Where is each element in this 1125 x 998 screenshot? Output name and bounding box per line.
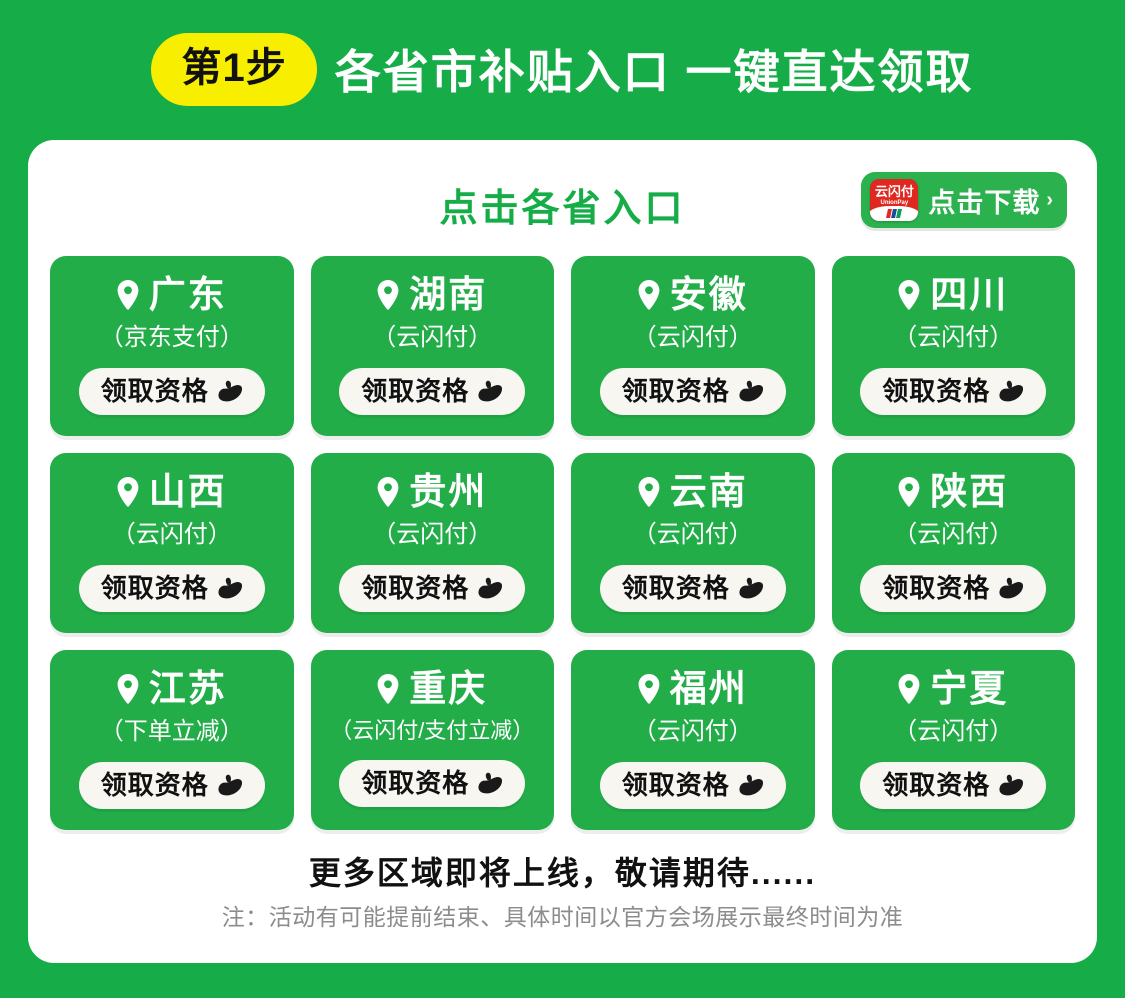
download-button[interactable]: 云闪付 UnionPay 点击下载 › <box>861 172 1067 228</box>
claim-button-label: 领取资格 <box>622 772 730 798</box>
claim-button-label: 领取资格 <box>622 575 730 601</box>
unionpay-logo-icon: 云闪付 UnionPay <box>870 179 918 221</box>
footer-headline: 更多区域即将上线，敬请期待...... <box>50 856 1075 891</box>
claim-button[interactable]: 领取资格 <box>339 760 525 807</box>
claim-button-label: 领取资格 <box>101 575 209 601</box>
claim-button[interactable]: 领取资格 <box>339 368 525 415</box>
province-channel: （云闪付） <box>633 326 753 350</box>
page-title: 各省市补贴入口 一键直达领取 <box>335 36 974 102</box>
hand-pointer-icon <box>998 774 1024 796</box>
province-name: 宁夏 <box>930 670 1008 707</box>
page-header: 第1步 各省市补贴入口 一键直达领取 <box>0 0 1125 120</box>
location-pin-icon <box>117 674 139 704</box>
province-channel: （云闪付） <box>893 326 1013 350</box>
province-name: 贵州 <box>409 473 487 510</box>
province-channel: （京东支付） <box>100 326 244 350</box>
location-pin-icon <box>377 674 399 704</box>
location-pin-icon <box>117 477 139 507</box>
province-card[interactable]: 安徽（云闪付）领取资格 <box>571 256 815 436</box>
claim-button[interactable]: 领取资格 <box>600 565 786 612</box>
province-card[interactable]: 福州（云闪付）领取资格 <box>571 650 815 830</box>
claim-button[interactable]: 领取资格 <box>79 368 265 415</box>
step-badge: 第1步 <box>151 33 316 106</box>
province-card-head: 重庆 <box>377 670 487 707</box>
province-name: 福州 <box>670 670 748 707</box>
unionpay-logo-base <box>870 206 918 221</box>
province-card-head: 宁夏 <box>898 670 1008 707</box>
location-pin-icon <box>898 674 920 704</box>
promo-page: 第1步 各省市补贴入口 一键直达领取 点击各省入口 云闪付 UnionPay 点… <box>0 0 1125 998</box>
province-name: 重庆 <box>409 670 487 707</box>
hand-pointer-icon <box>217 774 243 796</box>
claim-button[interactable]: 领取资格 <box>600 762 786 809</box>
province-name: 山西 <box>149 473 227 510</box>
hand-pointer-icon <box>738 380 764 402</box>
location-pin-icon <box>898 477 920 507</box>
section-title: 点击各省入口 <box>439 177 685 232</box>
claim-button[interactable]: 领取资格 <box>79 762 265 809</box>
province-name: 陕西 <box>930 473 1008 510</box>
location-pin-icon <box>638 477 660 507</box>
province-channel: （云闪付） <box>372 326 492 350</box>
province-card[interactable]: 湖南（云闪付）领取资格 <box>311 256 555 436</box>
province-name: 湖南 <box>409 276 487 313</box>
province-card[interactable]: 重庆（云闪付/支付立减）领取资格 <box>311 650 555 830</box>
panel-footer: 更多区域即将上线，敬请期待...... 注：活动有可能提前结束、具体时间以官方会… <box>50 856 1075 930</box>
footer-note: 注：活动有可能提前结束、具体时间以官方会场展示最终时间为准 <box>50 905 1075 930</box>
claim-button-label: 领取资格 <box>882 772 990 798</box>
location-pin-icon <box>638 280 660 310</box>
claim-button-label: 领取资格 <box>882 575 990 601</box>
claim-button-label: 领取资格 <box>361 770 469 796</box>
claim-button[interactable]: 领取资格 <box>860 762 1046 809</box>
location-pin-icon <box>377 477 399 507</box>
hand-pointer-icon <box>998 380 1024 402</box>
claim-button-label: 领取资格 <box>101 772 209 798</box>
stripe-green <box>896 209 902 218</box>
claim-button[interactable]: 领取资格 <box>339 565 525 612</box>
province-card-head: 四川 <box>898 276 1008 313</box>
province-card-head: 江苏 <box>117 670 227 707</box>
location-pin-icon <box>377 280 399 310</box>
province-channel: （云闪付） <box>633 523 753 547</box>
claim-button-label: 领取资格 <box>882 378 990 404</box>
content-panel: 点击各省入口 云闪付 UnionPay 点击下载 › 广东（京东支付）领取资格湖… <box>28 140 1097 963</box>
province-card-head: 广东 <box>117 276 227 313</box>
province-card[interactable]: 四川（云闪付）领取资格 <box>832 256 1076 436</box>
province-card[interactable]: 贵州（云闪付）领取资格 <box>311 453 555 633</box>
location-pin-icon <box>117 280 139 310</box>
province-card-head: 贵州 <box>377 473 487 510</box>
province-card-head: 山西 <box>117 473 227 510</box>
province-channel: （云闪付/支付立减） <box>330 720 534 742</box>
province-name: 广东 <box>149 276 227 313</box>
province-card-head: 陕西 <box>898 473 1008 510</box>
province-name: 云南 <box>670 473 748 510</box>
location-pin-icon <box>898 280 920 310</box>
province-channel: （云闪付） <box>372 523 492 547</box>
location-pin-icon <box>638 674 660 704</box>
panel-header: 点击各省入口 云闪付 UnionPay 点击下载 › <box>50 166 1075 242</box>
province-card-head: 云南 <box>638 473 748 510</box>
hand-pointer-icon <box>998 577 1024 599</box>
claim-button-label: 领取资格 <box>101 378 209 404</box>
hand-pointer-icon <box>738 774 764 796</box>
province-name: 四川 <box>930 276 1008 313</box>
hand-pointer-icon <box>217 380 243 402</box>
province-card[interactable]: 江苏（下单立减）领取资格 <box>50 650 294 830</box>
province-channel: （下单立减） <box>100 720 244 744</box>
hand-pointer-icon <box>217 577 243 599</box>
province-grid: 广东（京东支付）领取资格湖南（云闪付）领取资格安徽（云闪付）领取资格四川（云闪付… <box>50 256 1075 830</box>
province-card-head: 湖南 <box>377 276 487 313</box>
hand-pointer-icon <box>477 577 503 599</box>
province-card[interactable]: 广东（京东支付）领取资格 <box>50 256 294 436</box>
province-channel: （云闪付） <box>893 523 1013 547</box>
province-channel: （云闪付） <box>633 720 753 744</box>
hand-pointer-icon <box>477 772 503 794</box>
province-name: 安徽 <box>670 276 748 313</box>
claim-button[interactable]: 领取资格 <box>860 368 1046 415</box>
claim-button-label: 领取资格 <box>622 378 730 404</box>
province-card-head: 安徽 <box>638 276 748 313</box>
unionpay-logo-cn-text: 云闪付 <box>875 185 914 198</box>
province-card[interactable]: 山西（云闪付）领取资格 <box>50 453 294 633</box>
claim-button[interactable]: 领取资格 <box>600 368 786 415</box>
claim-button[interactable]: 领取资格 <box>860 565 1046 612</box>
province-card[interactable]: 陕西（云闪付）领取资格 <box>832 453 1076 633</box>
province-card[interactable]: 宁夏（云闪付）领取资格 <box>832 650 1076 830</box>
province-name: 江苏 <box>149 670 227 707</box>
province-card[interactable]: 云南（云闪付）领取资格 <box>571 453 815 633</box>
hand-pointer-icon <box>477 380 503 402</box>
claim-button-label: 领取资格 <box>361 378 469 404</box>
claim-button[interactable]: 领取资格 <box>79 565 265 612</box>
chevron-right-icon: › <box>1046 189 1053 212</box>
province-channel: （云闪付） <box>893 720 1013 744</box>
province-channel: （云闪付） <box>112 523 232 547</box>
province-card-head: 福州 <box>638 670 748 707</box>
claim-button-label: 领取资格 <box>361 575 469 601</box>
hand-pointer-icon <box>738 577 764 599</box>
download-button-label: 点击下载 <box>928 181 1040 220</box>
